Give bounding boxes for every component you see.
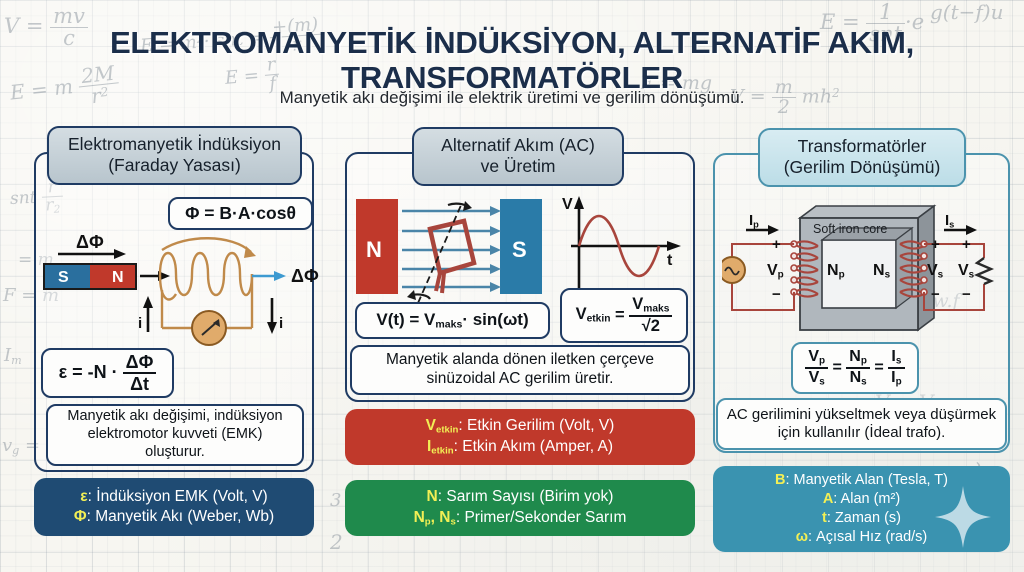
legend-key: Vetkin bbox=[426, 417, 459, 434]
legend-text: : Alan (m²) bbox=[833, 491, 900, 507]
legend-text: : Zaman (s) bbox=[827, 510, 901, 526]
vs-label-2: Vs bbox=[958, 262, 974, 280]
plus-right-label-2: + bbox=[962, 236, 971, 253]
minus-right-label-1: − bbox=[931, 286, 940, 303]
induction-legend: ε: İndüksiyon EMK (Volt, V) Φ: Manyetik … bbox=[34, 478, 314, 536]
legend-text: : Manyetik Akı (Weber, Wb) bbox=[87, 508, 275, 525]
ac-rms-lhs: Vetkin bbox=[576, 304, 611, 326]
delta-phi-right-label: ΔΦ bbox=[291, 266, 319, 287]
vs-label-1: Vs bbox=[927, 262, 943, 280]
legend-row: ε: İndüksiyon EMK (Volt, V) bbox=[80, 487, 267, 507]
legend-row: Ietkin: Etkin Akım (Amper, A) bbox=[427, 437, 613, 458]
np-label: Np bbox=[827, 262, 845, 280]
legend-row: B: Manyetik Alan (Tesla, T) bbox=[775, 471, 948, 490]
minus-left-label: − bbox=[772, 286, 781, 303]
flux-formula-box: Φ = B·A·cosθ bbox=[168, 197, 313, 230]
ac-sine-graph bbox=[565, 196, 685, 296]
axis-v-label: V bbox=[562, 196, 573, 214]
legend-key: ε bbox=[80, 488, 87, 505]
ac-legend-green: N: Sarım Sayısı (Birim yok) Np, Ns: Prim… bbox=[345, 480, 695, 536]
plus-left-label: + bbox=[772, 236, 781, 253]
legend-text: : Açısal Hız (rad/s) bbox=[808, 529, 927, 545]
ac-legend-red: Vetkin: Etkin Gerilim (Volt, V) Ietkin: … bbox=[345, 409, 695, 465]
legend-text: : Manyetik Alan (Tesla, T) bbox=[785, 472, 948, 488]
transformer-note-box: AC gerilimini yükseltmek veya düşürmek i… bbox=[716, 398, 1007, 450]
transformer-note: AC gerilimini yükseltmek veya düşürmek i… bbox=[726, 406, 997, 443]
induction-note: Manyetik akı değişimi, indüksiyon elektr… bbox=[56, 408, 294, 461]
induction-note-box: Manyetik akı değişimi, indüksiyon elektr… bbox=[46, 404, 304, 466]
ratio-ip: Ip bbox=[888, 369, 905, 388]
legend-key: A bbox=[823, 491, 833, 507]
emf-formula-box: ε = -N · ΔΦ Δt bbox=[41, 348, 174, 398]
legend-text: : Etkin Gerilim (Volt, V) bbox=[458, 417, 614, 434]
legend-row: ω: Açısal Hız (rad/s) bbox=[796, 528, 928, 547]
ac-voltage-formula-box: V(t) = Vmaks· sin(ωt) bbox=[355, 302, 550, 339]
legend-row: N: Sarım Sayısı (Birim yok) bbox=[427, 487, 614, 507]
legend-row: Vetkin: Etkin Gerilim (Volt, V) bbox=[426, 416, 615, 437]
panel-ac-header-line2: ve Üretim bbox=[428, 156, 608, 177]
panel-transformer-header-line2: (Gerilim Dönüşümü) bbox=[774, 157, 950, 178]
magnet-south-label: S bbox=[58, 269, 69, 287]
panel-transformer-header: Transformatörler (Gerilim Dönüşümü) bbox=[758, 128, 966, 187]
panel-induction-header-line1: Elektromanyetik İndüksiyon bbox=[63, 134, 286, 155]
panel-transformer-header-line1: Transformatörler bbox=[774, 136, 950, 157]
legend-key: B bbox=[775, 472, 785, 488]
panel-ac-header-line1: Alternatif Akım (AC) bbox=[428, 135, 608, 156]
ratio-vs: Vs bbox=[805, 369, 828, 388]
ac-rms-numerator: Vmaks bbox=[629, 296, 672, 317]
emf-formula-numerator: ΔΦ bbox=[123, 353, 157, 374]
legend-row: A: Alan (m²) bbox=[823, 490, 900, 509]
legend-text: : İndüksiyon EMK (Volt, V) bbox=[88, 488, 268, 505]
legend-key: Φ bbox=[74, 508, 87, 525]
legend-key: Ietkin bbox=[427, 438, 454, 455]
ac-rms-denominator: √2 bbox=[629, 317, 672, 335]
current-label-right: i bbox=[279, 315, 283, 332]
page-subtitle: Manyetik akı değişimi ile elektrik üreti… bbox=[0, 88, 1024, 108]
ratio-vp: Vp bbox=[805, 349, 828, 369]
ac-rms-formula-box: Vetkin = Vmaks √2 bbox=[560, 288, 688, 343]
ac-voltage-formula: V(t) = Vmaks· sin(ωt) bbox=[376, 310, 528, 331]
legend-row: t: Zaman (s) bbox=[822, 509, 901, 528]
delta-phi-left-label: ΔΦ bbox=[76, 232, 104, 253]
panel-induction-header: Elektromanyetik İndüksiyon (Faraday Yasa… bbox=[47, 126, 302, 185]
legend-row: Φ: Manyetik Akı (Weber, Wb) bbox=[74, 507, 274, 527]
flux-formula: Φ = B·A·cosθ bbox=[185, 203, 296, 224]
ratio-ns: Ns bbox=[846, 369, 870, 388]
ac-magnet-south-label: S bbox=[512, 237, 527, 263]
legend-key: N bbox=[427, 488, 438, 505]
plus-right-label-1: + bbox=[931, 236, 940, 253]
transformer-legend: B: Manyetik Alan (Tesla, T) A: Alan (m²)… bbox=[713, 466, 1010, 552]
transformer-core-label: Soft iron core bbox=[813, 222, 887, 236]
vp-label: Vp bbox=[767, 262, 784, 280]
current-label-left: i bbox=[138, 315, 142, 332]
legend-row: Np, Ns: Primer/Sekonder Sarım bbox=[414, 508, 627, 529]
panel-induction-header-line2: (Faraday Yasası) bbox=[63, 155, 286, 176]
legend-text: : Etkin Akım (Amper, A) bbox=[454, 438, 613, 455]
emf-formula-lhs: ε = -N · bbox=[59, 362, 118, 384]
ac-note: Manyetik alanda dönen iletken çerçeve si… bbox=[360, 351, 680, 389]
axis-t-label: t bbox=[667, 252, 672, 270]
ns-label: Ns bbox=[873, 262, 890, 280]
legend-text: : Sarım Sayısı (Birim yok) bbox=[438, 488, 614, 505]
ratio-is: Is bbox=[888, 349, 905, 369]
legend-text: : Primer/Sekonder Sarım bbox=[456, 509, 627, 526]
ratio-np: Np bbox=[846, 349, 870, 369]
emf-formula-denominator: Δt bbox=[123, 374, 157, 394]
ac-note-box: Manyetik alanda dönen iletken çerçeve si… bbox=[350, 345, 690, 395]
transformer-ratio-formula-box: VpVs = NpNs = IsIp bbox=[791, 342, 919, 394]
legend-key: Np, Ns bbox=[414, 509, 456, 526]
panel-ac-header: Alternatif Akım (AC) ve Üretim bbox=[412, 127, 624, 186]
minus-right-label-2: − bbox=[962, 286, 971, 303]
page-title: ELEKTROMANYETİK İNDÜKSİYON, ALTERNATİF A… bbox=[0, 26, 1024, 96]
ip-label: Ip bbox=[749, 212, 759, 229]
legend-key: ω bbox=[796, 529, 808, 545]
ac-magnet-north-label: N bbox=[366, 237, 382, 263]
magnet-north-label: N bbox=[112, 269, 124, 287]
is-label: Is bbox=[945, 212, 954, 229]
